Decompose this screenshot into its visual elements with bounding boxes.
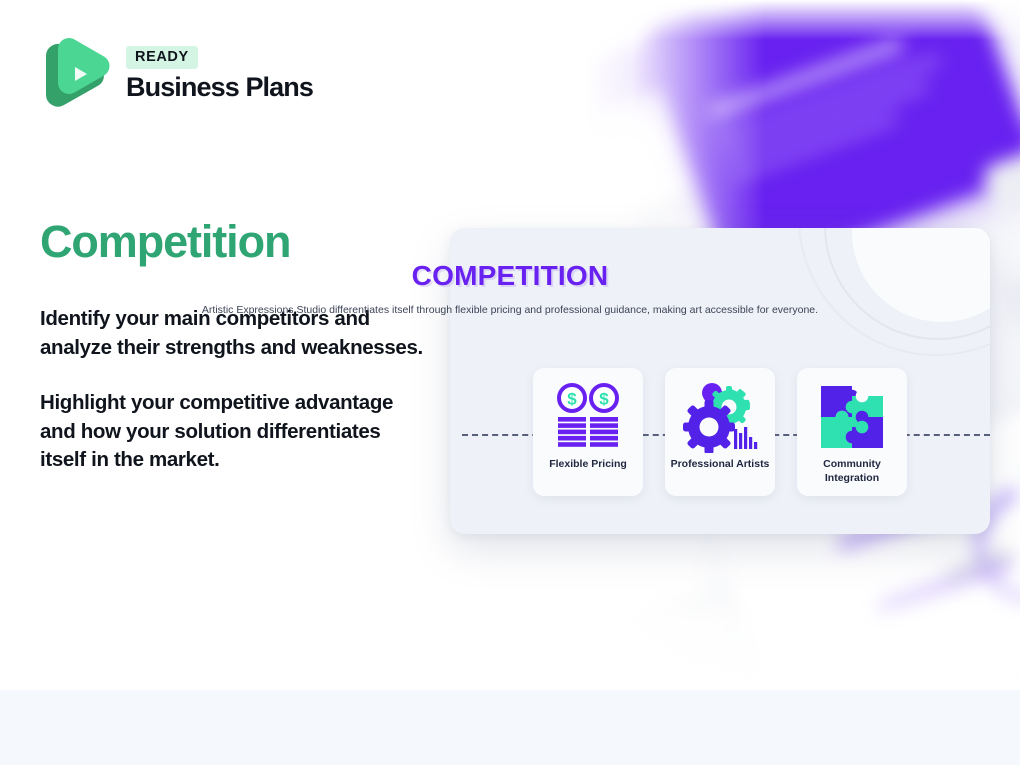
slide-title: COMPETITION [0,260,1020,292]
slide-preview-page: READY Business Plans Competition Identif… [0,0,1020,765]
slide-subtitle: Artistic Expressions Studio differentiat… [0,303,1020,318]
gears-lightbulb-chart-icon [682,378,758,456]
coin-stacks-icon: $ $ [553,378,623,456]
puzzle-pieces-icon [817,378,887,456]
feature-card-professional-artists[interactable]: Professional Artists [665,368,775,496]
feature-card-community-integration[interactable]: Community Integration [797,368,907,496]
feature-label: Community Integration [797,458,907,485]
ready-badge: READY [126,46,198,69]
feature-cards-row: $ $ Flexible Pricing [450,368,990,496]
feature-label: Professional Artists [671,458,770,472]
deck-fade-bottom [585,520,1020,690]
play-triangle-logo-icon [40,36,112,112]
decorative-arc-icon [798,228,990,356]
description-block: Identify your main competitors and analy… [40,305,430,475]
svg-text:$: $ [599,390,609,409]
brand-logo[interactable]: READY Business Plans [40,36,313,112]
svg-text:$: $ [567,390,577,409]
bottom-strip [0,690,1020,765]
feature-card-flexible-pricing[interactable]: $ $ Flexible Pricing [533,368,643,496]
brand-text-block: READY Business Plans [126,46,313,103]
description-paragraph-2: Highlight your competitive advantage and… [40,389,430,475]
brand-name: Business Plans [126,72,313,103]
feature-label: Flexible Pricing [549,458,627,472]
